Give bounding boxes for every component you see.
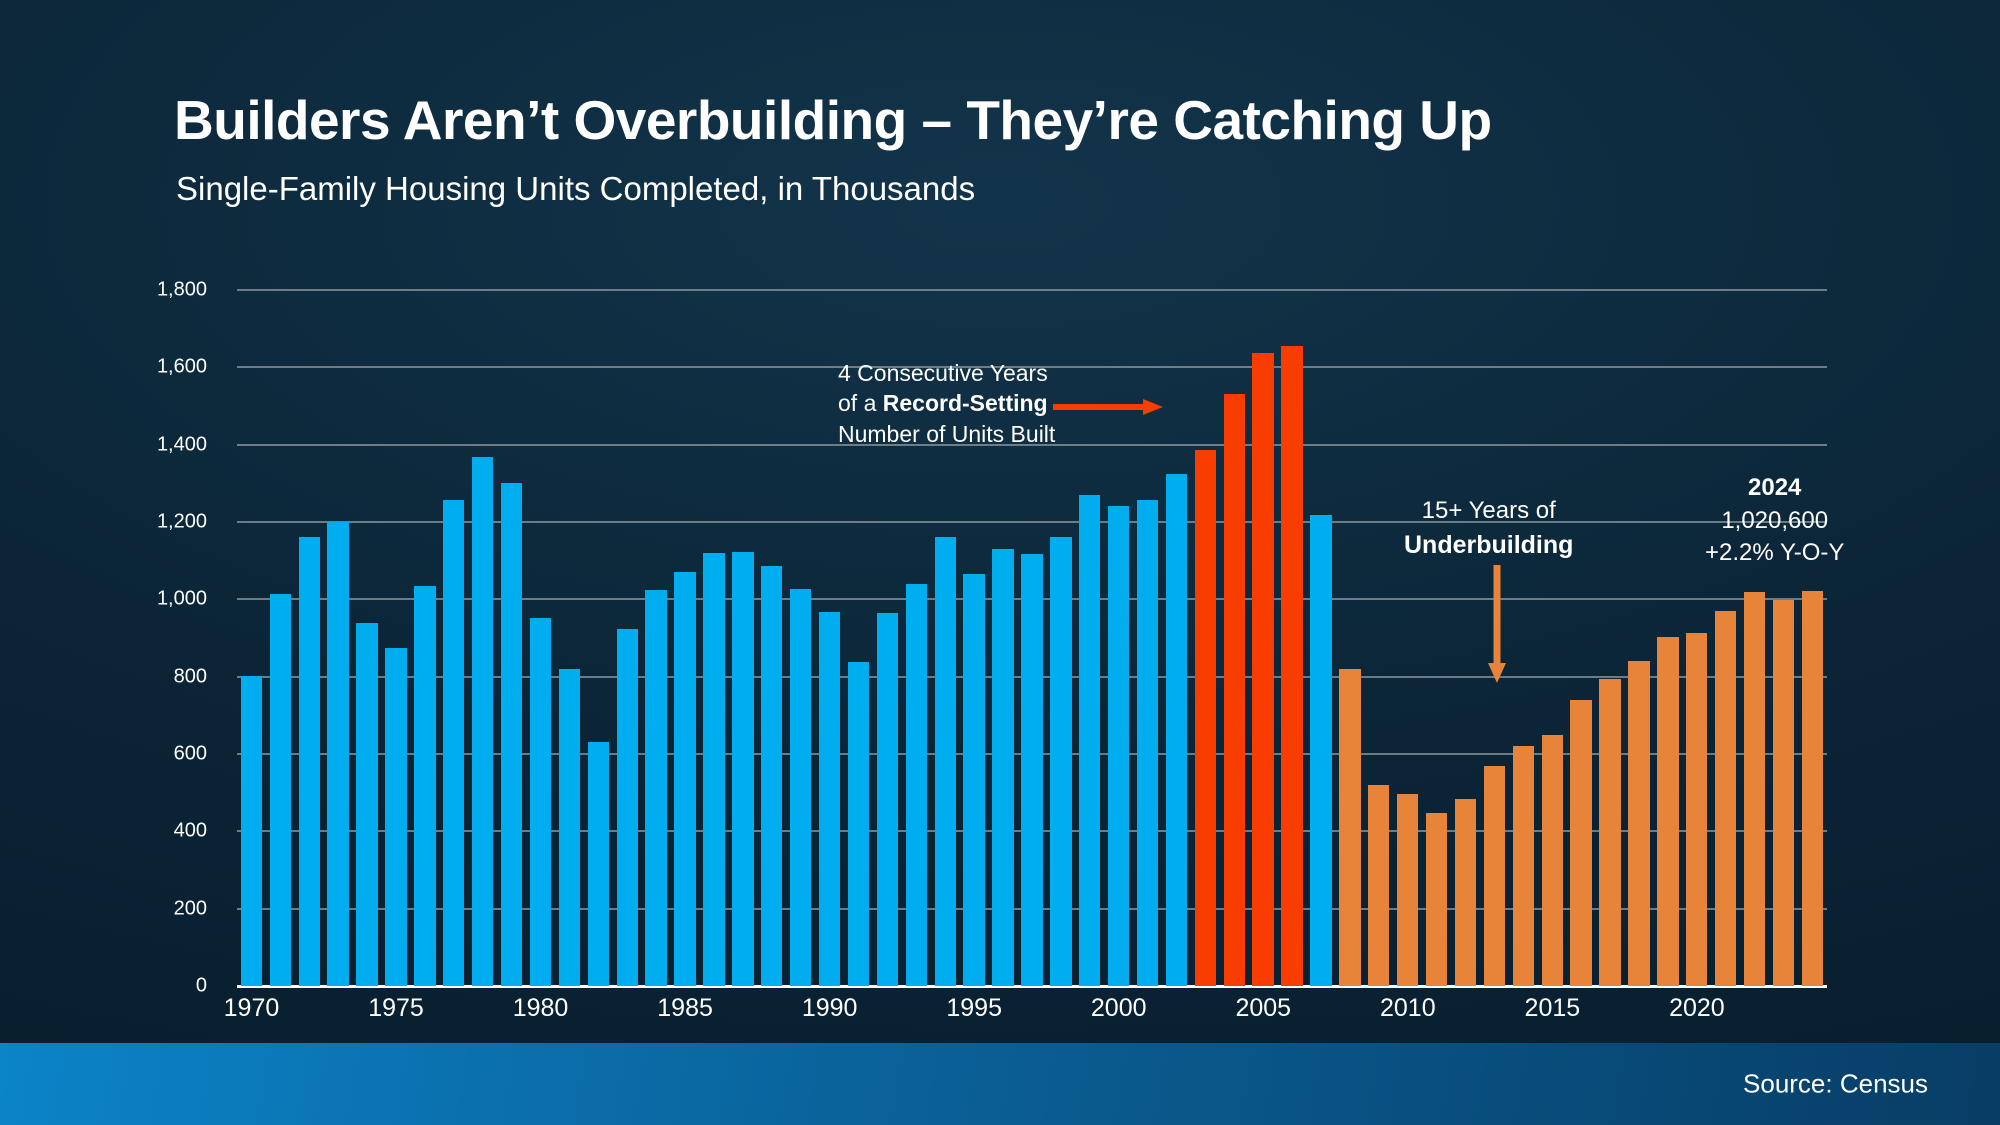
bar-column[interactable] xyxy=(1596,290,1625,986)
slide-canvas: Builders Aren’t Overbuilding – They’re C… xyxy=(0,0,2000,1125)
bar-2000[interactable] xyxy=(1108,506,1129,986)
bar-2010[interactable] xyxy=(1397,794,1418,986)
bar-1975[interactable] xyxy=(385,648,406,986)
y-axis-tick-label: 1,000 xyxy=(87,588,231,611)
bar-column[interactable] xyxy=(497,290,526,986)
bar-2012[interactable] xyxy=(1455,799,1476,986)
page-title: Builders Aren’t Overbuilding – They’re C… xyxy=(174,88,1492,152)
bar-1993[interactable] xyxy=(906,584,927,986)
bar-2008[interactable] xyxy=(1339,669,1360,986)
x-axis-tick-label: 2015 xyxy=(1525,994,1581,1023)
bar-column[interactable] xyxy=(1307,290,1336,986)
bar-2021[interactable] xyxy=(1715,611,1736,986)
bar-2015[interactable] xyxy=(1542,735,1563,986)
bar-2016[interactable] xyxy=(1570,700,1591,986)
bar-column[interactable] xyxy=(1567,290,1596,986)
annotation-record-setting: 4 Consecutive Years of a Record-Setting … xyxy=(838,358,1055,449)
bar-1970[interactable] xyxy=(241,676,262,986)
annotation-underbuilding: 15+ Years of Underbuilding xyxy=(1404,495,1573,562)
bar-2022[interactable] xyxy=(1744,592,1765,986)
x-axis-tick-label: 1970 xyxy=(224,994,280,1023)
x-axis-tick-label: 1995 xyxy=(946,994,1002,1023)
bar-column[interactable] xyxy=(642,290,671,986)
bar-2018[interactable] xyxy=(1628,661,1649,986)
bar-1973[interactable] xyxy=(327,522,348,986)
bar-column[interactable] xyxy=(671,290,700,986)
bar-1987[interactable] xyxy=(732,552,753,986)
bar-1983[interactable] xyxy=(617,629,638,986)
bar-2004[interactable] xyxy=(1224,394,1245,986)
annotation-record-line3: Number of Units Built xyxy=(838,419,1055,449)
down-arrow-orange-icon xyxy=(1488,565,1506,683)
bar-column[interactable] xyxy=(1133,290,1162,986)
bar-column[interactable] xyxy=(468,290,497,986)
annotation-underbuilding-line1: 15+ Years of xyxy=(1404,495,1573,528)
bar-1996[interactable] xyxy=(992,549,1013,986)
annotation-latest-change: +2.2% Y-O-Y xyxy=(1705,537,1844,570)
x-axis-tick-label: 2000 xyxy=(1091,994,1147,1023)
annotation-record-line1: 4 Consecutive Years xyxy=(838,358,1055,388)
bar-column[interactable] xyxy=(1278,290,1307,986)
page-subtitle: Single-Family Housing Units Completed, i… xyxy=(176,170,975,208)
bar-1974[interactable] xyxy=(356,623,377,986)
x-axis-tick-label: 2005 xyxy=(1235,994,1291,1023)
bar-1995[interactable] xyxy=(963,574,984,986)
bar-1979[interactable] xyxy=(501,483,522,986)
bar-column[interactable] xyxy=(353,290,382,986)
bar-2011[interactable] xyxy=(1426,813,1447,986)
bar-column[interactable] xyxy=(1769,290,1798,986)
y-axis-tick-label: 800 xyxy=(87,665,231,688)
bar-column[interactable] xyxy=(1509,290,1538,986)
bar-column[interactable] xyxy=(1538,290,1567,986)
bar-column[interactable] xyxy=(1711,290,1740,986)
bar-column[interactable] xyxy=(1364,290,1393,986)
bar-column[interactable] xyxy=(700,290,729,986)
bar-column[interactable] xyxy=(324,290,353,986)
bar-2005[interactable] xyxy=(1252,353,1273,986)
bar-2024[interactable] xyxy=(1802,591,1823,986)
y-axis-tick-label: 1,200 xyxy=(87,511,231,534)
footer-bar: Source: Census xyxy=(0,1043,2000,1125)
bar-2020[interactable] xyxy=(1686,633,1707,986)
x-axis-tick-label: 1990 xyxy=(802,994,858,1023)
bar-2003[interactable] xyxy=(1195,450,1216,986)
bar-column[interactable] xyxy=(1451,290,1480,986)
bar-column[interactable] xyxy=(266,290,295,986)
bar-column[interactable] xyxy=(1798,290,1827,986)
bar-column[interactable] xyxy=(1682,290,1711,986)
bar-column[interactable] xyxy=(526,290,555,986)
annotation-underbuilding-line2: Underbuilding xyxy=(1404,531,1573,559)
y-axis-tick-label: 400 xyxy=(87,820,231,843)
bar-2023[interactable] xyxy=(1773,600,1794,986)
bar-1976[interactable] xyxy=(414,586,435,986)
x-axis-tick-label: 2020 xyxy=(1669,994,1725,1023)
bar-2014[interactable] xyxy=(1513,746,1534,986)
bar-1971[interactable] xyxy=(270,594,291,986)
bar-column[interactable] xyxy=(555,290,584,986)
bar-column[interactable] xyxy=(786,290,815,986)
bar-column[interactable] xyxy=(584,290,613,986)
bar-2001[interactable] xyxy=(1137,500,1158,986)
bar-2013[interactable] xyxy=(1484,766,1505,986)
annotation-latest-year-label: 2024 xyxy=(1705,472,1844,505)
y-axis-tick-label: 1,600 xyxy=(87,356,231,379)
x-axis-tick-label: 2010 xyxy=(1380,994,1436,1023)
bar-column[interactable] xyxy=(728,290,757,986)
right-arrow-red-icon xyxy=(1053,399,1163,415)
bar-1984[interactable] xyxy=(645,590,666,986)
bar-1992[interactable] xyxy=(877,613,898,986)
bar-2002[interactable] xyxy=(1166,474,1187,986)
bar-2019[interactable] xyxy=(1657,637,1678,986)
bar-1999[interactable] xyxy=(1079,495,1100,986)
annotation-latest-year: 2024 1,020,600 +2.2% Y-O-Y xyxy=(1705,472,1844,570)
bar-column[interactable] xyxy=(1653,290,1682,986)
bar-column[interactable] xyxy=(613,290,642,986)
bar-column[interactable] xyxy=(382,290,411,986)
bar-column[interactable] xyxy=(1335,290,1364,986)
bar-column[interactable] xyxy=(1393,290,1422,986)
annotation-record-line2-bold: Record-Setting xyxy=(883,390,1048,416)
bar-2007[interactable] xyxy=(1310,515,1331,986)
bar-column[interactable] xyxy=(757,290,786,986)
bar-1989[interactable] xyxy=(790,589,811,986)
bar-1981[interactable] xyxy=(559,669,580,986)
bar-column[interactable] xyxy=(1191,290,1220,986)
bar-column[interactable] xyxy=(1625,290,1654,986)
bar-column[interactable] xyxy=(1249,290,1278,986)
bar-column[interactable] xyxy=(237,290,266,986)
bar-2009[interactable] xyxy=(1368,785,1389,986)
bar-1977[interactable] xyxy=(443,500,464,986)
bar-1985[interactable] xyxy=(674,572,695,987)
bar-column[interactable] xyxy=(1220,290,1249,986)
bar-1990[interactable] xyxy=(819,612,840,986)
source-label: Source: Census xyxy=(1743,1069,1928,1100)
bar-column[interactable] xyxy=(1740,290,1769,986)
bar-column[interactable] xyxy=(410,290,439,986)
bar-1972[interactable] xyxy=(299,537,320,986)
y-axis-tick-label: 600 xyxy=(87,743,231,766)
bar-1982[interactable] xyxy=(588,742,609,986)
bar-column[interactable] xyxy=(439,290,468,986)
bar-1980[interactable] xyxy=(530,618,551,986)
bar-column[interactable] xyxy=(1075,290,1104,986)
bar-2006[interactable] xyxy=(1281,346,1302,986)
annotation-record-line2: of a Record-Setting xyxy=(838,388,1055,418)
bar-2017[interactable] xyxy=(1599,679,1620,986)
bar-1988[interactable] xyxy=(761,566,782,986)
y-axis-tick-label: 1,400 xyxy=(87,433,231,456)
y-axis-tick-label: 200 xyxy=(87,897,231,920)
bar-1997[interactable] xyxy=(1021,554,1042,986)
bar-1978[interactable] xyxy=(472,457,493,986)
annotation-record-line2-prefix: of a xyxy=(838,390,883,416)
bar-column[interactable] xyxy=(1104,290,1133,986)
bar-1998[interactable] xyxy=(1050,537,1071,986)
bar-1986[interactable] xyxy=(703,553,724,986)
bar-1994[interactable] xyxy=(935,537,956,986)
y-axis-tick-label: 1,800 xyxy=(87,279,231,302)
bar-1991[interactable] xyxy=(848,662,869,986)
x-axis-tick-label: 1985 xyxy=(657,994,713,1023)
bar-column[interactable] xyxy=(1162,290,1191,986)
annotation-latest-value: 1,020,600 xyxy=(1705,505,1844,538)
x-axis-tick-label: 1975 xyxy=(368,994,424,1023)
y-axis-tick-label: 0 xyxy=(87,975,231,998)
bar-column[interactable] xyxy=(295,290,324,986)
x-axis-tick-label: 1980 xyxy=(513,994,569,1023)
bar-column[interactable] xyxy=(1422,290,1451,986)
